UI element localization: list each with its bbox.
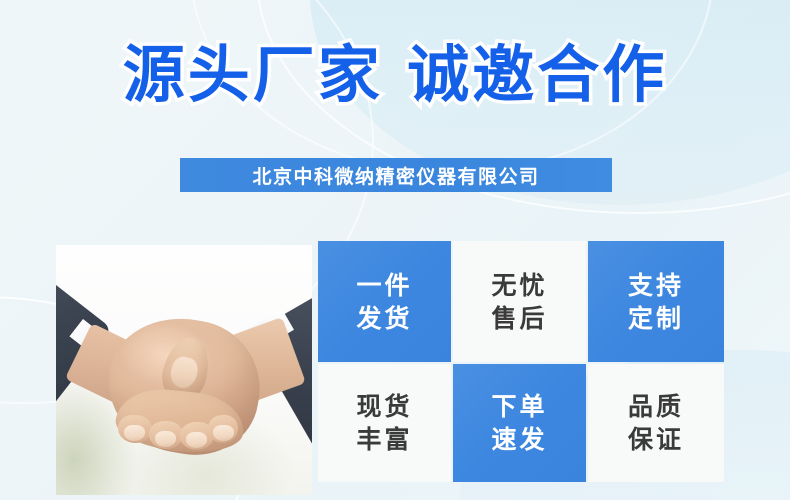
feature-line-2: 保证 [628,423,684,456]
fingernail-2 [155,431,176,447]
fingernail-4 [213,425,234,441]
feature-line-1: 品质 [628,390,684,423]
promo-banner: 源头厂家 诚邀合作 北京中科微纳精密仪器有限公司 一件 发货 无忧 [0,0,790,500]
fingernail-1 [124,425,145,441]
feature-cell-pinzhi-baozheng[interactable]: 品质 保证 [588,364,724,482]
company-name-bar: 北京中科微纳精密仪器有限公司 [180,158,612,192]
feature-line-1: 下单 [491,390,547,423]
handshake-photo [56,245,312,495]
feature-cell-xianhuo-fengfu[interactable]: 现货 丰富 [318,364,451,482]
fingernail-3 [186,432,207,448]
feature-grid: 一件 发货 无忧 售后 支持 定制 现货 丰富 下单 速发 品质 保证 [318,241,728,482]
feature-line-1: 无忧 [491,269,547,302]
company-name-text: 北京中科微纳精密仪器有限公司 [252,162,539,189]
feature-cell-zhichi-dingzhi[interactable]: 支持 定制 [588,241,724,362]
feature-cell-yijian-fahuo[interactable]: 一件 发货 [318,241,451,362]
headline-text: 源头厂家 诚邀合作 [0,42,790,107]
feature-line-1: 支持 [628,269,684,302]
feature-line-2: 速发 [491,423,547,456]
feature-cell-xiadan-sufa[interactable]: 下单 速发 [453,364,586,482]
feature-line-2: 售后 [491,302,547,335]
feature-line-2: 丰富 [356,423,412,456]
feature-line-2: 发货 [356,302,412,335]
feature-cell-wuyou-shouhou[interactable]: 无忧 售后 [453,241,586,362]
feature-line-1: 现货 [356,390,412,423]
feature-line-1: 一件 [356,269,412,302]
feature-line-2: 定制 [628,302,684,335]
